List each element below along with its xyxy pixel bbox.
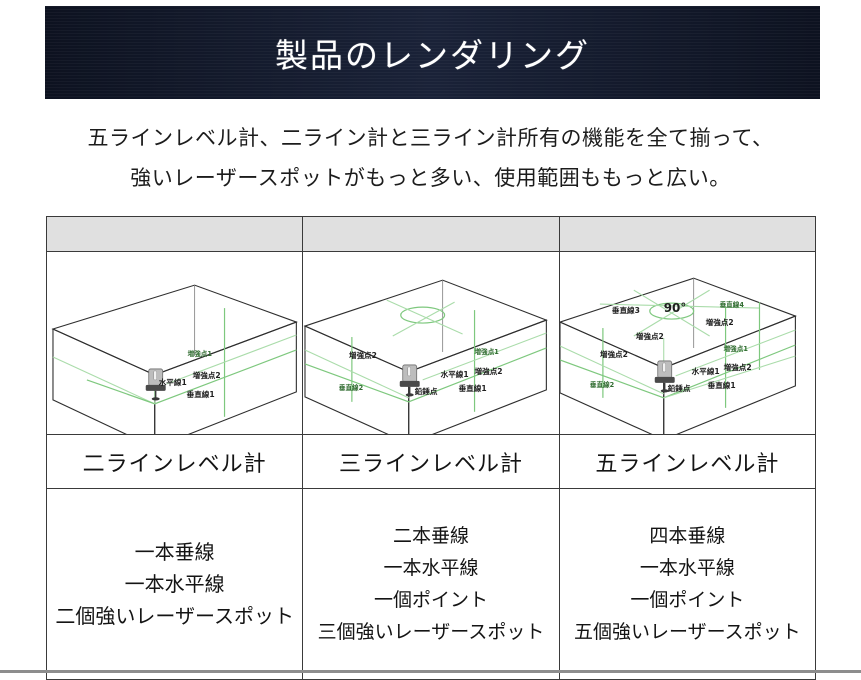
three-line-level-room-diagram: 増強点2 垂直線2 増強点1 増強点2 水平線1 垂直線1 鉛錘点 — [303, 252, 558, 434]
model-name-cell-three-line: 三ラインレベル計 — [303, 435, 559, 489]
label-enhance-point-1: 増強点1 — [723, 344, 748, 353]
features-cell-five-line: 四本垂線 一本水平線 一個ポイント 五個強いレーザースポット — [559, 489, 815, 680]
model-name-cell-five-line: 五ラインレベル計 — [559, 435, 815, 489]
laser-lines — [53, 308, 296, 417]
label-plumb-point: 鉛錘点 — [415, 386, 438, 396]
table-diagram-row: 増強点1 増強点2 水平線1 垂直線1 — [47, 252, 816, 435]
label-horizontal-line-1: 水平線1 — [691, 366, 719, 376]
label-enhance-point-2-left: 増強点2 — [349, 350, 377, 360]
label-enhance-point-2-mid: 増強点2 — [635, 331, 663, 341]
page-title: 製品のレンダリング — [275, 29, 590, 77]
label-vertical-line-1: 垂直線1 — [707, 380, 735, 390]
product-comparison-table: 増強点1 増強点2 水平線1 垂直線1 — [46, 216, 816, 680]
room-box-wireframe — [53, 285, 296, 434]
label-plumb-point: 鉛錘点 — [667, 383, 690, 393]
feature-list-five-line: 四本垂線 一本水平線 一個ポイント 五個強いレーザースポット — [562, 495, 813, 673]
label-horizontal-line-1: 水平線1 — [441, 369, 469, 379]
feature-item: 二個強いレーザースポット — [55, 601, 294, 631]
subtitle-line-2: 強いレーザースポットがもっと多い、使用範囲ももっと広い。 — [0, 158, 861, 198]
feature-item: 一本水平線 — [640, 553, 735, 583]
feature-item: 三個強いレーザースポット — [318, 617, 545, 647]
feature-item: 一個ポイント — [374, 585, 488, 615]
two-line-level-room-diagram: 増強点1 増強点2 水平線1 垂直線1 — [47, 252, 302, 434]
label-vertical-line-3: 垂直線3 — [612, 305, 640, 315]
label-vertical-line-1: 垂直線1 — [459, 383, 487, 393]
label-vertical-line-2: 垂直線2 — [339, 383, 363, 392]
bottom-divider — [0, 670, 861, 673]
table-model-name-row: 二ラインレベル計 三ラインレベル計 五ラインレベル計 — [47, 435, 816, 489]
feature-item: 四本垂線 — [649, 521, 725, 551]
model-name-five-line: 五ラインレベル計 — [560, 446, 815, 478]
feature-item: 一本垂線 — [135, 537, 215, 567]
label-horizontal-line-1: 水平線1 — [159, 377, 187, 387]
label-angle-90: 90° — [663, 301, 686, 315]
label-enhance-point-1: 増強点1 — [188, 349, 213, 358]
feature-item: 一本水平線 — [383, 553, 478, 583]
diagram-cell-two-line: 増強点1 増強点2 水平線1 垂直線1 — [47, 252, 303, 435]
features-cell-two-line: 一本垂線 一本水平線 二個強いレーザースポット — [47, 489, 303, 680]
header-cell-3 — [559, 217, 815, 252]
subtitle-block: 五ラインレベル計、二ライン計と三ライン計所有の機能を全て揃って、 強いレーザース… — [0, 118, 861, 198]
table-features-row: 一本垂線 一本水平線 二個強いレーザースポット 二本垂線 一本水平線 一個ポイン… — [47, 489, 816, 680]
label-enhance-point-2-left: 増強点2 — [600, 349, 628, 359]
label-enhance-point-2-right: 増強点2 — [723, 362, 751, 372]
feature-list-two-line: 一本垂線 一本水平線 二個強いレーザースポット — [49, 495, 300, 673]
table-header-row — [47, 217, 816, 252]
label-enhance-point-2: 増強点2 — [193, 370, 221, 380]
model-name-cell-two-line: 二ラインレベル計 — [47, 435, 303, 489]
feature-item: 二本垂線 — [393, 521, 469, 551]
features-cell-three-line: 二本垂線 一本水平線 一個ポイント 三個強いレーザースポット — [303, 489, 559, 680]
room-box-wireframe — [305, 280, 546, 434]
feature-item: 五個強いレーザースポット — [574, 617, 801, 647]
diagram-cell-five-line: 垂直線3 垂直線4 増強点2 増強点2 増強点2 垂直線2 増強点1 水平線1 … — [559, 252, 815, 435]
feature-item: 一個ポイント — [630, 585, 744, 615]
label-vertical-line-1: 垂直線1 — [187, 389, 215, 399]
model-name-two-line: 二ラインレベル計 — [47, 446, 302, 478]
label-vertical-line-2: 垂直線2 — [590, 380, 614, 389]
label-enhance-point-2-right: 増強点2 — [475, 366, 503, 376]
label-enhance-point-2-upper: 増強点2 — [705, 317, 733, 327]
header-cell-1 — [47, 217, 303, 252]
label-enhance-point-1: 増強点1 — [475, 347, 500, 356]
subtitle-line-1: 五ラインレベル計、二ライン計と三ライン計所有の機能を全て揃って、 — [0, 118, 861, 158]
five-line-level-room-diagram: 垂直線3 垂直線4 増強点2 増強点2 増強点2 垂直線2 増強点1 水平線1 … — [560, 252, 815, 434]
feature-item: 一本水平線 — [125, 569, 225, 599]
model-name-three-line: 三ラインレベル計 — [303, 446, 558, 478]
header-cell-2 — [303, 217, 559, 252]
diagram-cell-three-line: 増強点2 垂直線2 増強点1 増強点2 水平線1 垂直線1 鉛錘点 — [303, 252, 559, 435]
label-vertical-line-4: 垂直線4 — [719, 300, 744, 309]
feature-list-three-line: 二本垂線 一本水平線 一個ポイント 三個強いレーザースポット — [305, 495, 556, 673]
header-banner: 製品のレンダリング — [45, 6, 820, 99]
